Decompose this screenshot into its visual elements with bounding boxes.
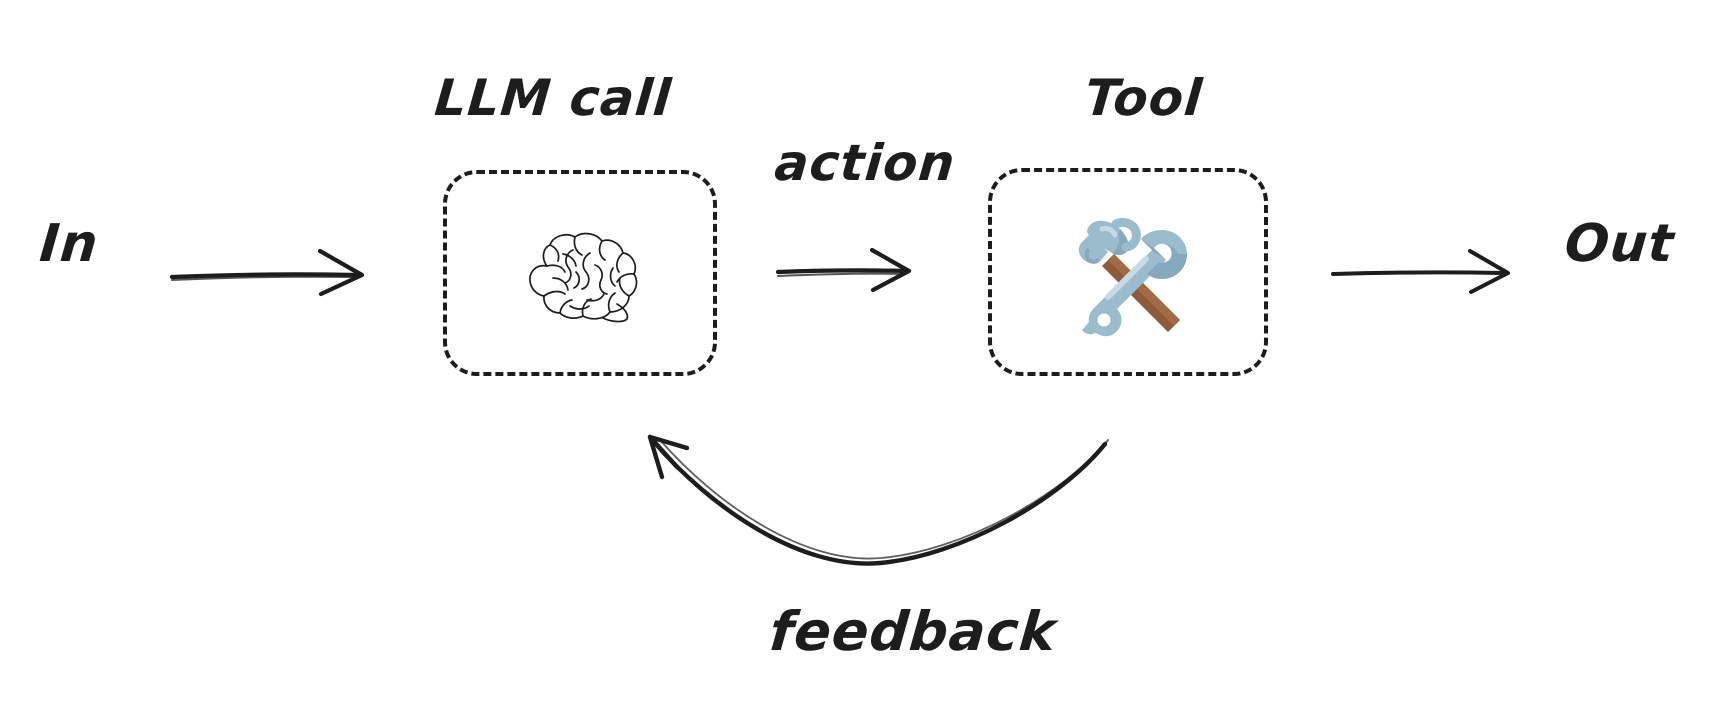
edge-label-action: action [773, 138, 958, 188]
node-llm-call[interactable] [443, 170, 717, 376]
hammer-and-wrench-icon [1058, 202, 1198, 342]
diagram-canvas: In Out LLM call Tool action feedback [0, 0, 1732, 712]
arrow-llm-to-tool [778, 250, 909, 290]
tool-title: Tool [1083, 73, 1205, 123]
node-tool[interactable] [988, 168, 1268, 376]
llm-call-title: LLM call [433, 73, 674, 123]
input-label: In [38, 218, 101, 270]
output-label: Out [1563, 218, 1677, 270]
edge-label-feedback: feedback [768, 605, 1059, 659]
arrow-feedback-curve [650, 437, 1108, 564]
arrow-tool-to-out [1333, 251, 1508, 292]
arrow-in-to-llm [172, 251, 362, 294]
brain-icon [517, 220, 643, 326]
